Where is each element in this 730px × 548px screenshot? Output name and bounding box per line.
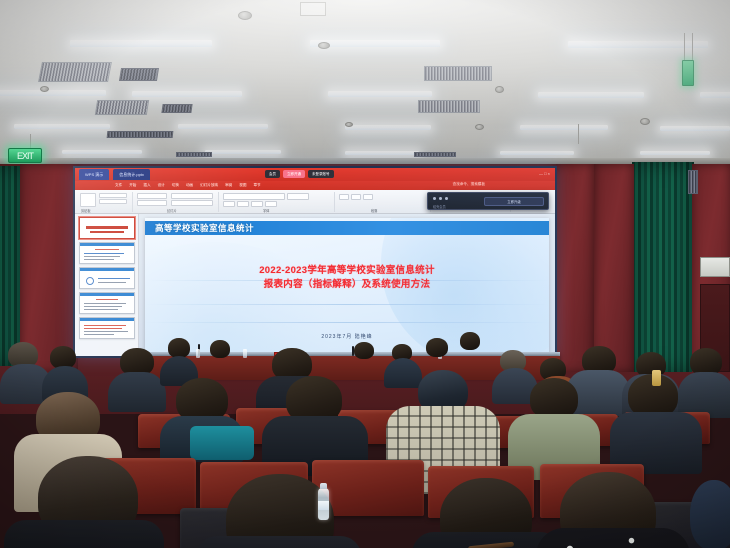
hanging-wire — [578, 124, 579, 144]
ceiling-light-tube — [568, 41, 708, 48]
app-title-bar: WPS 演示 信息统计.pptx 会员 立即开通 未登录账号 — □ × — [75, 168, 555, 181]
ceiling-light-tube — [328, 91, 432, 97]
ceiling-light-tube — [538, 92, 644, 98]
ceiling-light-tube — [660, 126, 730, 131]
ceiling-speaker — [318, 42, 330, 49]
attendee-head — [354, 342, 374, 359]
ceiling-light-tube — [345, 125, 431, 130]
align-left-button[interactable] — [339, 194, 349, 200]
air-vent — [424, 66, 492, 81]
wall-speaker — [688, 170, 698, 194]
ceiling-light-tube — [500, 151, 574, 155]
ceiling-light-tube — [205, 150, 281, 154]
air-vent — [95, 100, 149, 115]
ceiling-sensor — [40, 86, 49, 92]
photo-scene: EXIT WPS 演示 信息统计.pptx 会员 立即开通 未登录账号 — □ … — [0, 0, 730, 548]
water-bottle — [318, 488, 329, 520]
align-right-button[interactable] — [363, 194, 373, 200]
ribbon-tab-slideshow[interactable]: 幻灯片放映 — [200, 183, 218, 188]
title-bar-promo: 会员 立即开通 未登录账号 — [265, 170, 334, 178]
slide-thumbnail[interactable] — [79, 292, 135, 314]
attendee-body — [4, 520, 164, 548]
audience — [0, 330, 730, 548]
slide-main-title: 2022-2023学年高等学校实验室信息统计 报表内容（指标解释）及系统使用方法 — [145, 264, 549, 292]
ceiling-light-tube — [345, 151, 419, 155]
tooltip-dots-icon — [433, 197, 448, 200]
exit-sign-icon: EXIT — [8, 148, 42, 163]
slide-title-line-1: 2022-2023学年高等学校实验室信息统计 — [145, 264, 549, 278]
exit-sign-label: EXIT — [17, 151, 33, 161]
ceiling-projector-mount — [300, 2, 326, 16]
window-controls[interactable]: — □ × — [539, 171, 550, 176]
ribbon-tab-design[interactable]: 设计 — [158, 183, 165, 188]
slide-header-banner: 高等学校实验室信息统计 — [145, 221, 549, 235]
air-vent — [38, 62, 112, 82]
ceiling-light-tube — [700, 92, 730, 98]
ceiling-speaker — [238, 11, 252, 20]
upgrade-chip[interactable]: 立即开通 — [283, 170, 305, 178]
paste-button[interactable] — [80, 193, 96, 207]
hanging-wire — [692, 33, 693, 61]
ceiling-light-tube — [14, 124, 110, 129]
ribbon-tab-section[interactable]: 章节 — [253, 183, 260, 188]
wps-office-window: WPS 演示 信息统计.pptx 会员 立即开通 未登录账号 — □ × 文件 … — [75, 168, 555, 356]
attendee-body-floral — [536, 528, 690, 548]
align-center-button[interactable] — [351, 194, 361, 200]
ribbon-group-label: 剪贴板 — [81, 208, 91, 213]
ribbon-group-paragraph — [335, 192, 431, 212]
reset-button[interactable] — [171, 200, 213, 206]
section-button[interactable] — [171, 193, 213, 199]
attendee-head — [460, 332, 480, 350]
text-color-button[interactable] — [265, 201, 277, 207]
hair-clip — [652, 370, 661, 386]
air-vent — [414, 152, 456, 157]
air-vent — [418, 100, 480, 113]
font-size-select[interactable] — [287, 193, 309, 200]
ceiling-sensor — [345, 122, 353, 127]
ribbon-tab-home[interactable]: 开始 — [129, 183, 136, 188]
ceiling-light-tube — [62, 150, 142, 154]
attendee-head — [210, 340, 230, 358]
italic-button[interactable] — [237, 201, 249, 207]
ceiling-sensor — [495, 86, 504, 93]
slide-thumbnail[interactable] — [79, 267, 135, 289]
attendee-head — [426, 338, 448, 357]
ribbon-group-label: 段落 — [371, 208, 377, 213]
ceiling-light-tube — [0, 90, 106, 96]
ceiling — [0, 0, 730, 166]
upgrade-button[interactable]: 立即升级 — [484, 197, 544, 206]
attendee-body — [384, 358, 422, 388]
slide-thumbnail[interactable] — [79, 242, 135, 264]
ceiling-light-tube — [70, 40, 212, 47]
exit-sign-icon — [682, 60, 694, 86]
app-tab-wps[interactable]: WPS 演示 — [79, 169, 109, 180]
slide-header-text: 高等学校实验室信息统计 — [145, 222, 254, 234]
ribbon-tab-view[interactable]: 视图 — [239, 183, 246, 188]
ribbon-tab-insert[interactable]: 插入 — [143, 183, 150, 188]
underline-button[interactable] — [251, 201, 263, 207]
cut-button[interactable] — [99, 193, 127, 198]
ceiling-sensor — [640, 118, 650, 125]
tooltip-subtitle: 稻壳会员 — [433, 204, 446, 209]
layout-button[interactable] — [137, 200, 167, 206]
ceiling-sensor — [475, 124, 484, 130]
ribbon-group-label: 字体 — [263, 208, 269, 213]
upgrade-tooltip[interactable]: 立即升级 稻壳会员 — [427, 192, 549, 210]
air-vent — [119, 68, 159, 81]
attendee-body — [196, 536, 362, 548]
bottle-label — [318, 501, 329, 510]
font-family-select[interactable] — [223, 193, 285, 200]
copy-button[interactable] — [99, 199, 127, 204]
attendee-bag — [190, 426, 254, 460]
ceiling-light-tube — [640, 151, 710, 155]
air-vent — [161, 104, 192, 113]
attendee-head — [690, 480, 730, 548]
new-slide-button[interactable] — [137, 193, 167, 199]
air-vent — [107, 131, 174, 138]
ribbon-group-label: 幻灯片 — [167, 208, 177, 213]
ceiling-light-tube — [520, 125, 608, 130]
account-chip[interactable]: 未登录账号 — [308, 170, 334, 178]
attendee-head — [168, 338, 190, 358]
bottle-cap — [320, 483, 327, 489]
ribbon-search-input[interactable]: 查找命令、搜索模板 — [453, 182, 485, 187]
ribbon-tab-file[interactable]: 文件 — [115, 183, 122, 188]
bold-button[interactable] — [223, 201, 235, 207]
ribbon-tab-transition[interactable]: 切换 — [172, 183, 179, 188]
ceiling-light-tube — [178, 124, 268, 129]
air-vent — [176, 152, 212, 157]
attendee-body — [108, 372, 166, 412]
membership-chip[interactable]: 会员 — [265, 170, 280, 178]
app-tab-document[interactable]: 信息统计.pptx — [113, 169, 150, 180]
slide-thumbnail[interactable] — [79, 217, 135, 239]
ribbon-tab-review[interactable]: 审阅 — [225, 183, 232, 188]
slide-title-line-2: 报表内容（指标解释）及系统使用方法 — [145, 278, 549, 292]
ribbon-tab-animation[interactable]: 动画 — [186, 183, 193, 188]
hanging-wire — [684, 33, 685, 61]
wall-notice-board — [700, 257, 730, 277]
ceiling-light-tube — [132, 91, 242, 97]
